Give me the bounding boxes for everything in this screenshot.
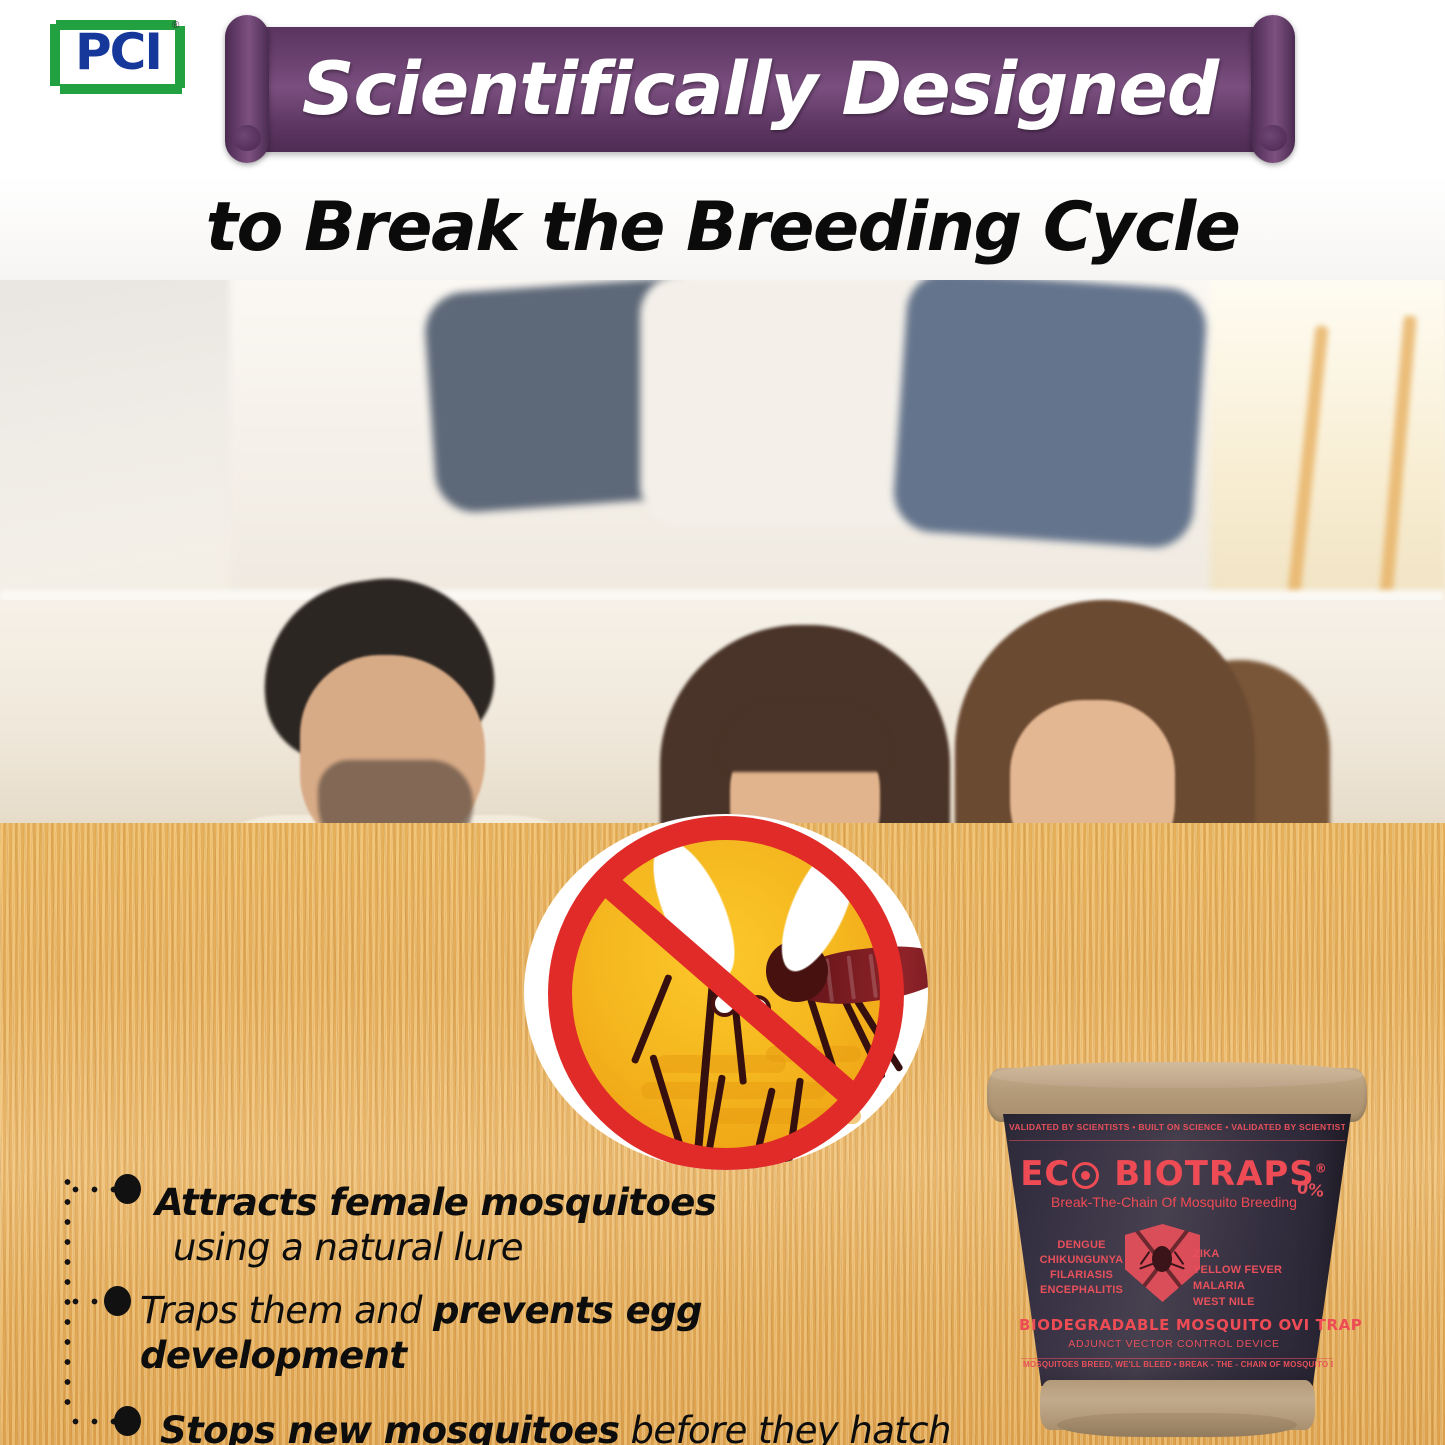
family-photo [0,270,1445,823]
dotted-branch-3 [66,1418,121,1425]
bullet-dot-1 [114,1174,141,1204]
banner-title: Scientifically Designed [285,37,1235,142]
scroll-roll-right-icon [1251,15,1295,163]
bullet-3-regular: before they hatch [619,1409,950,1445]
registered-trademark-icon: ® [172,20,179,31]
brand-registered-icon: ® [1315,1162,1328,1176]
bullet-2-regular: Traps them and [140,1289,433,1332]
brand-eco: EC [1020,1154,1070,1194]
bullet-3-bold: Stops new mosquitoes [160,1409,619,1445]
product-brand-name: EC BIOTRAPS® [1019,1154,1329,1194]
product-type-label: BIODEGRADABLE MOSQUITO OVI TRAP [1019,1316,1329,1334]
list-item: Traps them and prevents egg development [140,1288,940,1378]
page-subtitle: to Break the Breeding Cycle [0,175,1445,280]
scroll-roll-left-icon [225,15,269,163]
disease-list-right: ZIKA YELLOW FEVER MALARIA WEST NILE [1193,1246,1303,1310]
brand-biotraps: BIOTRAPS [1114,1154,1315,1194]
bullet-1-regular: using a natural lure [173,1226,523,1269]
pci-logo-text: PCI [68,23,168,83]
mosquito-o-icon [1072,1162,1099,1189]
dotted-branch-1 [66,1186,121,1193]
label-top-band-text: VALIDATED BY SCIENTISTS • BUILT ON SCIEN… [1009,1122,1345,1137]
product-subtype-label: ADJUNCT VECTOR CONTROL DEVICE [1019,1338,1329,1350]
list-item: Attracts female mosquitoes using a natur… [155,1180,955,1270]
list-item: Stops new mosquitoes before they hatch [160,1408,990,1445]
bullet-dot-2 [104,1286,131,1316]
bullet-dot-3 [114,1406,141,1436]
advertisement-page: PCI ® Scientifically Designed to Break t… [0,0,1445,1445]
no-mosquito-sign [524,814,928,1170]
dotted-connector-line [64,1172,71,1417]
disease-list-left: DENGUE CHIKUNGUNYA FILARIASIS ENCEPHALIT… [1029,1238,1134,1298]
header-band: PCI ® Scientifically Designed [0,0,1445,168]
product-tagline: Break-The-Chain Of Mosquito Breeding [1019,1194,1329,1210]
scroll-banner: Scientifically Designed [225,15,1295,163]
pci-logo: PCI ® [50,14,185,100]
feature-bullet-list: Attracts female mosquitoes using a natur… [0,1160,980,1445]
product-cup-image: VALIDATED BY SCIENTISTS • BUILT ON SCIEN… [985,1068,1370,1438]
bullet-1-bold: Attracts female mosquitoes [155,1181,716,1224]
label-bottom-band-text: MOSQUITOES BREED, WE'LL BLEED • BREAK - … [1023,1360,1333,1374]
